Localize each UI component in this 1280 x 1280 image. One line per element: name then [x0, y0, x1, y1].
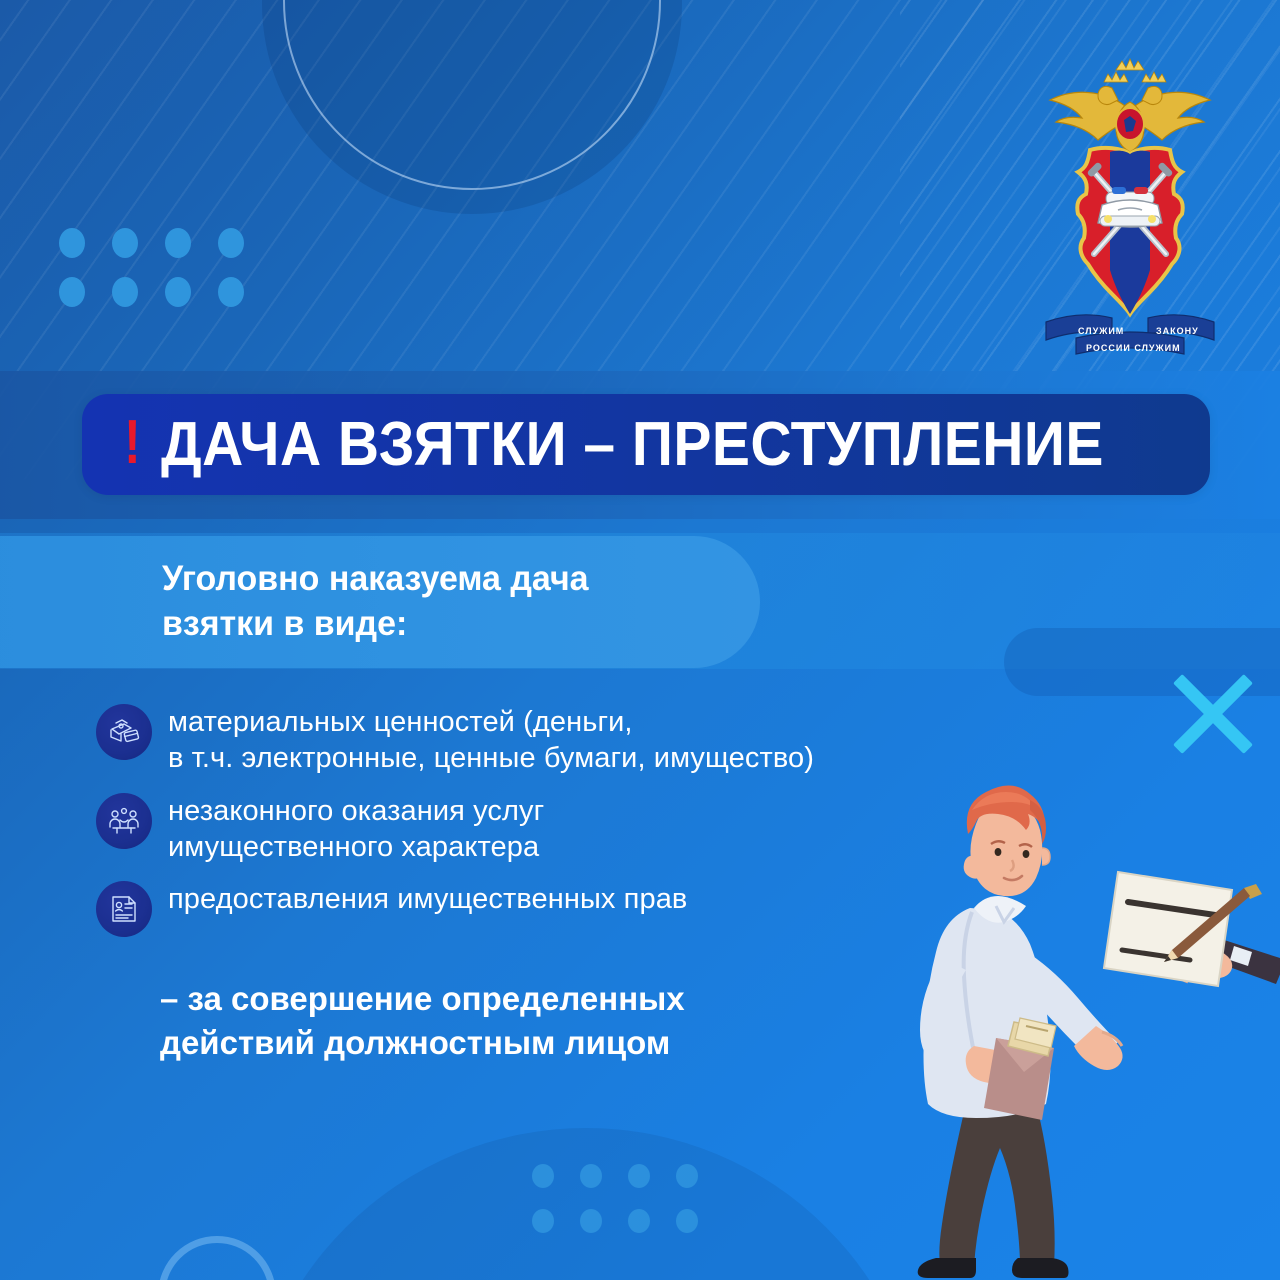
- decor-dot: [580, 1164, 602, 1188]
- dot-grid-bottom: [532, 1164, 702, 1239]
- bullet-3-line-1: предоставления имущественных прав: [168, 881, 687, 917]
- dot-grid-top-left: [59, 228, 244, 307]
- money-card-icon: [96, 704, 152, 760]
- decor-ring-bottom-left: [158, 1236, 276, 1280]
- document-id-icon: [96, 881, 152, 937]
- decor-pill-right: [1004, 628, 1280, 696]
- decor-dot: [165, 228, 191, 258]
- footer-note: – за совершение определенных действий до…: [160, 977, 880, 1064]
- list-item-label: предоставления имущественных прав: [168, 879, 687, 917]
- list-item-label: материальных ценностей (деньги, в т.ч. э…: [168, 702, 814, 777]
- footer-line-2: действий должностным лицом: [160, 1021, 880, 1065]
- decor-dot: [112, 228, 138, 258]
- subtitle-line-2: взятки в виде:: [162, 604, 407, 643]
- svg-text:ЗАКОНУ: ЗАКОНУ: [1156, 326, 1199, 336]
- page-title-banner: ! ДАЧА ВЗЯТКИ – ПРЕСТУПЛЕНИЕ: [82, 394, 1210, 495]
- decor-dot: [165, 277, 191, 307]
- decor-dot: [628, 1164, 650, 1188]
- exclamation-mark-icon: !: [124, 412, 141, 474]
- x-stroke: [1173, 674, 1253, 754]
- man-figure: [918, 785, 1123, 1278]
- decor-dot: [59, 228, 85, 258]
- decor-dot: [580, 1209, 602, 1233]
- decor-dot: [532, 1164, 554, 1188]
- people-table-icon: [96, 793, 152, 849]
- cross-x-icon: [1163, 664, 1263, 764]
- bullet-2-line-2: имущественного характера: [168, 829, 544, 865]
- page-title: ДАЧА ВЗЯТКИ – ПРЕСТУПЛЕНИЕ: [161, 414, 1104, 476]
- footer-line-1: – за совершение определенных: [160, 977, 880, 1021]
- bribe-handover-illustration: [846, 760, 1280, 1280]
- svg-text:РОССИИ СЛУЖИМ: РОССИИ СЛУЖИМ: [1086, 343, 1181, 353]
- subtitle-banner: Уголовно наказуема дача взятки в виде:: [0, 536, 760, 668]
- double-headed-eagle-icon: [1050, 59, 1210, 166]
- subtitle-line-1: Уголовно наказуема дача: [162, 559, 589, 598]
- decor-dot: [628, 1209, 650, 1233]
- decor-circle-bottom: [246, 1128, 926, 1280]
- bullet-1-line-2: в т.ч. электронные, ценные бумаги, имуще…: [168, 740, 814, 776]
- mvd-emblem: СЛУЖИМ ЗАКОНУ РОССИИ СЛУЖИМ: [1032, 58, 1228, 358]
- x-stroke: [1173, 674, 1253, 754]
- list-item-label: незаконного оказания услуг имущественног…: [168, 791, 544, 866]
- poster-root: СЛУЖИМ ЗАКОНУ РОССИИ СЛУЖИМ ! ДАЧА ВЗЯТК…: [0, 0, 1280, 1280]
- decor-dot: [218, 228, 244, 258]
- motto-ribbon: СЛУЖИМ ЗАКОНУ РОССИИ СЛУЖИМ: [1046, 315, 1214, 354]
- svg-text:СЛУЖИМ: СЛУЖИМ: [1078, 326, 1124, 336]
- subtitle-text: Уголовно наказуема дача взятки в виде:: [162, 557, 686, 647]
- man-head: [964, 785, 1050, 896]
- decor-dot: [59, 277, 85, 307]
- decor-ring-top: [283, 0, 661, 190]
- bullet-2-line-1: незаконного оказания услуг: [168, 793, 544, 829]
- police-shield-icon: [1077, 148, 1182, 314]
- decor-dot: [112, 277, 138, 307]
- signed-document: [1104, 872, 1232, 986]
- decor-dot: [676, 1209, 698, 1233]
- decor-dot: [218, 277, 244, 307]
- decor-dot: [676, 1164, 698, 1188]
- decor-circle-top: [262, 0, 682, 214]
- bullet-1-line-1: материальных ценностей (деньги,: [168, 704, 814, 740]
- decor-dot: [532, 1209, 554, 1233]
